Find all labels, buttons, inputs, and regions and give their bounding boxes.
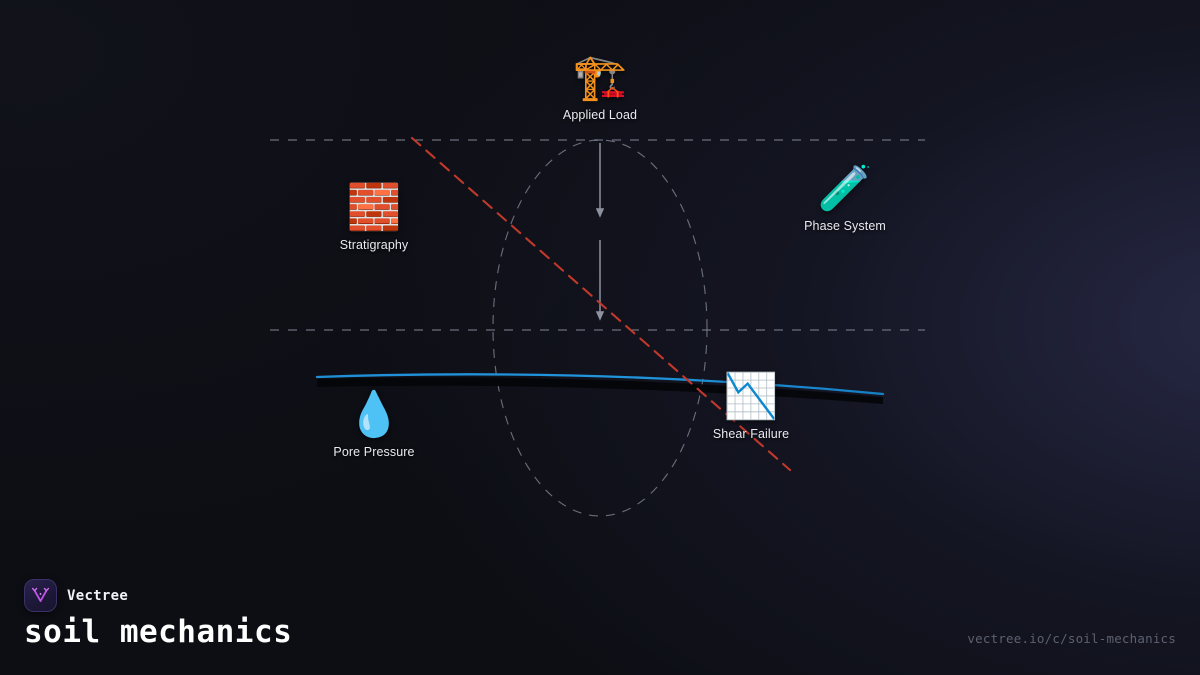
chart-decreasing-icon: 📉	[724, 371, 779, 423]
footer-url: vectree.io/c/soil-mechanics	[967, 631, 1176, 646]
node-pore-pressure[interactable]: 💧 Pore Pressure	[294, 389, 454, 459]
node-label-phase-system: Phase System	[804, 219, 886, 233]
water-droplet-icon: 💧	[347, 389, 402, 441]
brick-wall-icon: 🧱	[347, 182, 402, 234]
node-label-applied-load: Applied Load	[563, 108, 637, 122]
test-tube-icon: 🧪	[818, 163, 873, 215]
node-phase-system[interactable]: 🧪 Phase System	[765, 163, 925, 233]
node-applied-load[interactable]: 🏗️ Applied Load	[520, 52, 680, 122]
node-label-pore-pressure: Pore Pressure	[333, 445, 414, 459]
node-shear-failure[interactable]: 📉 Shear Failure	[671, 371, 831, 441]
node-stratigraphy[interactable]: 🧱 Stratigraphy	[294, 182, 454, 252]
page-title: soil mechanics	[24, 614, 292, 650]
brand-row[interactable]: Vectree	[24, 579, 128, 612]
construction-crane-icon: 🏗️	[573, 52, 628, 104]
diagram-canvas: 🏗️ Applied Load 🧱 Stratigraphy 🧪 Phase S…	[0, 0, 1200, 675]
brand-name: Vectree	[67, 588, 128, 604]
footer-bar: Vectree soil mechanics vectree.io/c/soil…	[0, 565, 1200, 675]
node-label-shear-failure: Shear Failure	[713, 427, 789, 441]
node-label-stratigraphy: Stratigraphy	[340, 238, 409, 252]
vectree-v-logo-icon	[24, 579, 57, 612]
